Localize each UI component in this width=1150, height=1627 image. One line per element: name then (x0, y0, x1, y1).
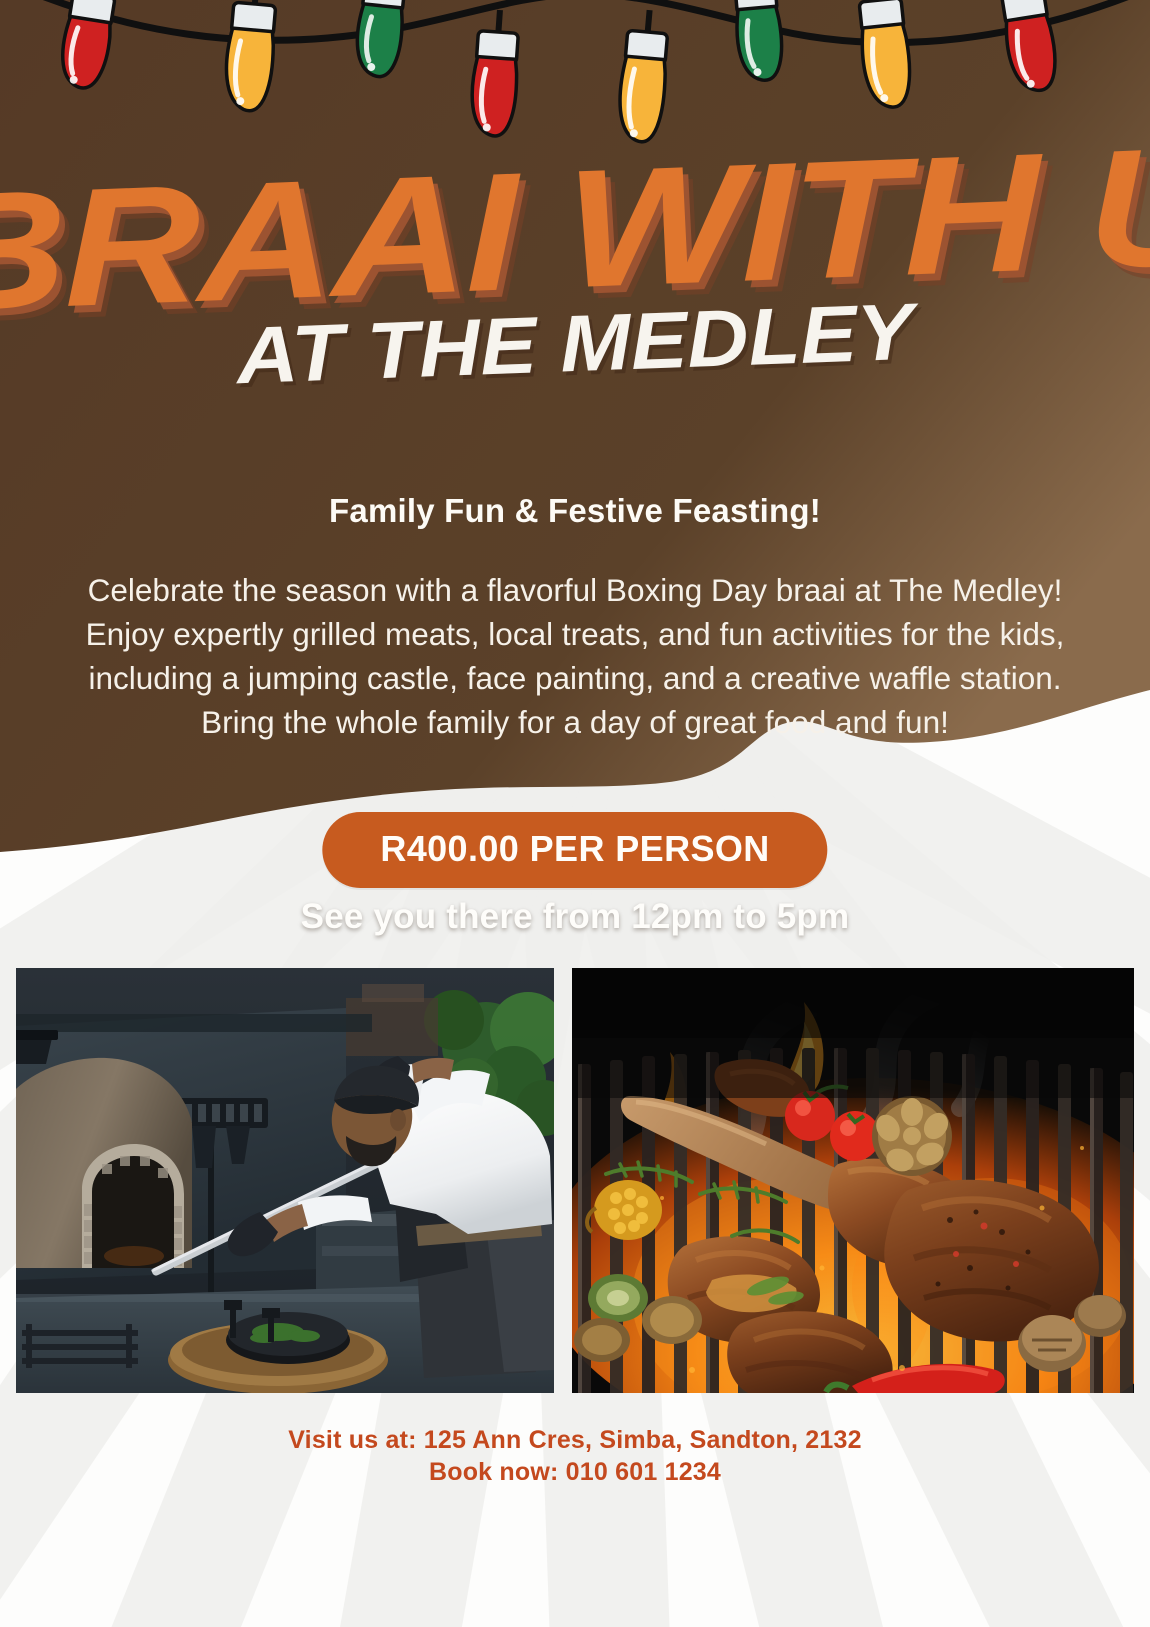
footer-contact: Visit us at: 125 Ann Cres, Simba, Sandto… (0, 1424, 1150, 1488)
price-badge: R400.00 PER PERSON (322, 812, 827, 888)
bulb-red (57, 0, 119, 91)
tagline: Family Fun & Festive Feasting! (0, 492, 1150, 530)
bulb-amber (616, 8, 671, 143)
title-block: BRAAI WITH US AT THE MEDLEY (0, 150, 1150, 384)
footer-address: Visit us at: 125 Ann Cres, Simba, Sandto… (0, 1424, 1150, 1456)
bulb-red (469, 9, 521, 138)
bulb-red (997, 0, 1061, 94)
grilled-meats-photo (572, 968, 1134, 1393)
description-paragraph: Celebrate the season with a flavorful Bo… (80, 568, 1070, 744)
chef-at-oven-photo (16, 968, 554, 1393)
poster-root: BRAAI WITH US AT THE MEDLEY Family Fun &… (0, 0, 1150, 1627)
christmas-lights-decoration (0, 0, 1150, 160)
bulb-amber (855, 0, 914, 110)
photo-row (16, 968, 1134, 1393)
bulb-green (353, 0, 408, 79)
footer-booking: Book now: 010 601 1234 (0, 1456, 1150, 1488)
bulb-green (732, 0, 785, 82)
bulb-amber (223, 0, 279, 112)
event-time: See you there from 12pm to 5pm (0, 897, 1150, 937)
